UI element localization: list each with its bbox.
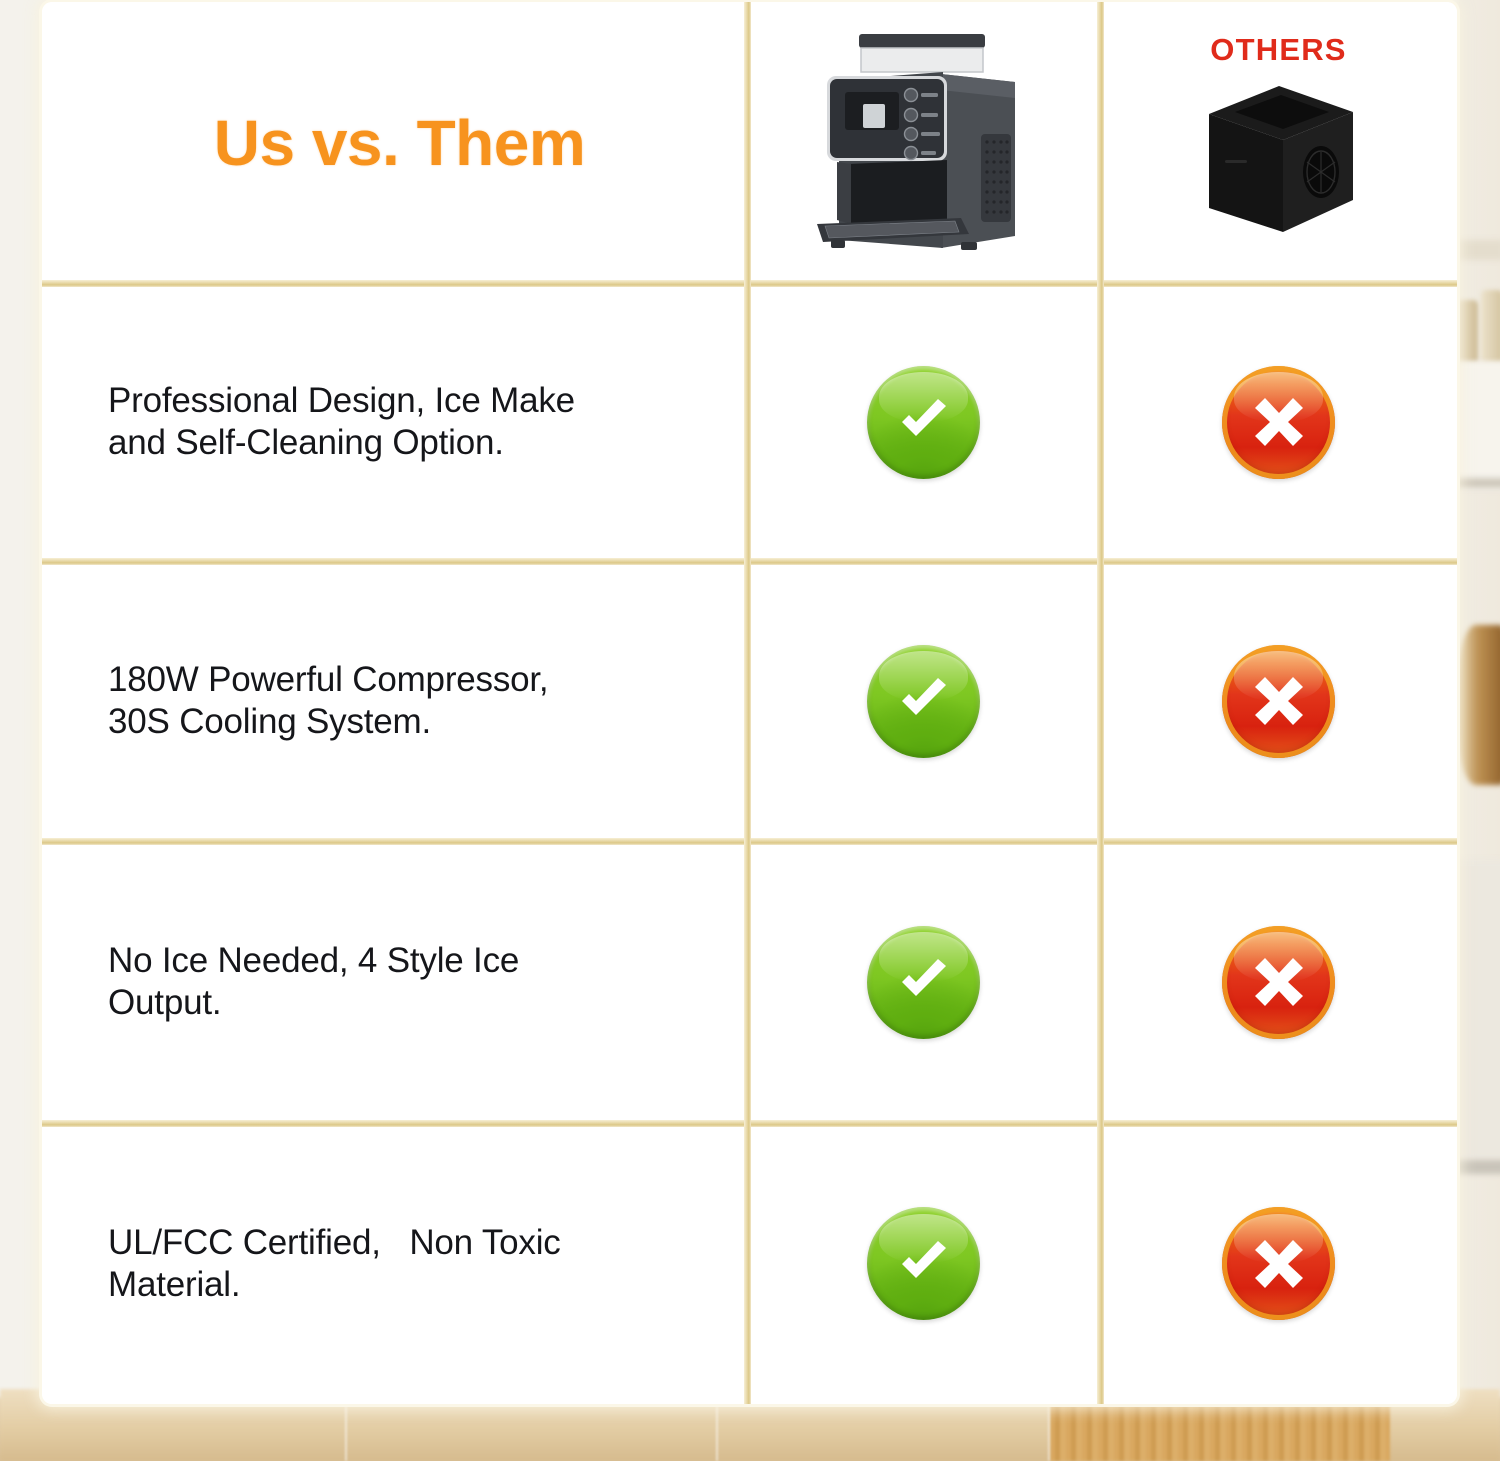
page-title: Us vs. Them [42, 106, 747, 180]
us-product-cell [747, 2, 1100, 283]
us-status-cell [747, 561, 1100, 841]
us-status-cell [747, 283, 1100, 561]
us-status-cell [747, 1123, 1100, 1404]
others-status-cell [1100, 561, 1457, 841]
red-cross-icon [1222, 645, 1335, 758]
background-shelf-rail [1452, 478, 1500, 488]
background-shelf-middle [1456, 362, 1500, 490]
feature-text: UL/FCC Certified, Non Toxic Material. [108, 1222, 561, 1306]
comparison-grid: Us vs. Them [42, 2, 1457, 1404]
background-sink-edge [1452, 1160, 1500, 1174]
feature-text: 180W Powerful Compressor, 30S Cooling Sy… [108, 659, 548, 743]
others-status-cell [1100, 1123, 1457, 1404]
others-status-cell [1100, 283, 1457, 561]
title-cell: Us vs. Them [42, 2, 747, 283]
background-cutting-board [1456, 625, 1500, 785]
feature-cell: Professional Design, Ice Make and Self-C… [42, 283, 747, 561]
others-label: OTHERS [1210, 32, 1346, 68]
feature-text: No Ice Needed, 4 Style Ice Output. [108, 940, 519, 1024]
background-glass-jar-left [1456, 300, 1478, 362]
feature-cell: UL/FCC Certified, Non Toxic Material. [42, 1123, 747, 1404]
background-shelf-upper [1458, 240, 1500, 260]
feature-cell: No Ice Needed, 4 Style Ice Output. [42, 841, 747, 1123]
background-lower-cabinet [1452, 860, 1500, 1160]
feature-cell: 180W Powerful Compressor, 30S Cooling Sy… [42, 561, 747, 841]
green-check-icon [867, 1207, 980, 1320]
feature-text: Professional Design, Ice Make and Self-C… [108, 380, 575, 464]
background-glass-jar-right [1481, 290, 1500, 362]
others-product-cell: OTHERS [1100, 2, 1457, 283]
green-check-icon [867, 645, 980, 758]
green-check-icon [867, 926, 980, 1039]
us-status-cell [747, 841, 1100, 1123]
our-ice-maker-icon [801, 24, 1047, 262]
competitor-ice-maker-icon [1191, 72, 1367, 248]
red-cross-icon [1222, 366, 1335, 479]
red-cross-icon [1222, 926, 1335, 1039]
comparison-table: Us vs. Them [42, 2, 1457, 1404]
green-check-icon [867, 366, 980, 479]
others-status-cell [1100, 841, 1457, 1123]
red-cross-icon [1222, 1207, 1335, 1320]
